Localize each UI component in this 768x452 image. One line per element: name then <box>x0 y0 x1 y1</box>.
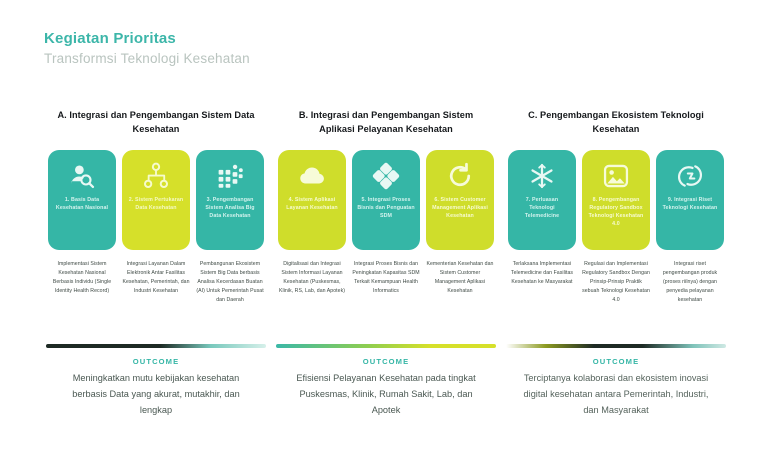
card-9-label: 9. Integrasi Riset Teknologi Kesehatan <box>661 197 719 213</box>
column-b: B. Integrasi dan Pengembangan Sistem Apl… <box>274 108 498 418</box>
outcome-text-a: Meningkatkan mutu kebijakan kesehatan be… <box>46 371 266 418</box>
column-b-cards: 4. Sistem Aplikasi Layanan Kesehatan <box>274 150 498 250</box>
column-c-cards: 7. Perluasan Teknologi Telemedicine 8. P… <box>504 150 728 250</box>
description-7: Terlaksana Implementasi Telemedicine dan… <box>508 260 576 336</box>
column-c-heading: C. Pengembangan Ekosistem Teknologi Kese… <box>504 108 728 138</box>
card-7-label: 7. Perluasan Teknologi Telemedicine <box>513 197 571 221</box>
column-a: A. Integrasi dan Pengembangan Sistem Dat… <box>44 108 268 418</box>
card-8[interactable]: 8. Pengembangan Regulatory Sandbox Tekno… <box>582 150 650 250</box>
card-6[interactable]: 6. Sistem Customer Management Aplikasi K… <box>426 150 494 250</box>
card-1[interactable]: 1. Basis Data Kesehatan Nasional <box>48 150 116 250</box>
cloud-icon <box>297 161 327 191</box>
description-4: Digitalisasi dan Integrasi Sistem Inform… <box>278 260 346 336</box>
description-5: Integrasi Proses Bisnis dan Peningkatan … <box>352 260 420 336</box>
card-4-label: 4. Sistem Aplikasi Layanan Kesehatan <box>283 197 341 213</box>
card-9[interactable]: 9. Integrasi Riset Teknologi Kesehatan <box>656 150 724 250</box>
card-5-label: 5. Integrasi Proses Bisnis dan Penguatan… <box>357 197 415 221</box>
card-3[interactable]: 3. Pengembangan Sistem Analisa Big Data … <box>196 150 264 250</box>
card-5[interactable]: 5. Integrasi Proses Bisnis dan Penguatan… <box>352 150 420 250</box>
user-search-icon <box>67 161 97 191</box>
card-2[interactable]: 2. Sistem Pertukaran Data Kesehatan <box>122 150 190 250</box>
column-b-descriptions: Digitalisasi dan Integrasi Sistem Inform… <box>274 260 498 336</box>
card-2-label: 2. Sistem Pertukaran Data Kesehatan <box>127 197 185 213</box>
column-c-descriptions: Terlaksana Implementasi Telemedicine dan… <box>504 260 728 336</box>
medical-snowflake-icon <box>527 161 557 191</box>
card-7[interactable]: 7. Perluasan Teknologi Telemedicine <box>508 150 576 250</box>
card-6-label: 6. Sistem Customer Management Aplikasi K… <box>431 197 489 221</box>
outcome-label-a: OUTCOME <box>46 357 266 366</box>
card-1-label: 1. Basis Data Kesehatan Nasional <box>53 197 111 213</box>
header: Kegiatan Prioritas Transformsi Teknologi… <box>44 30 250 67</box>
outcome-divider-b <box>276 344 496 348</box>
column-a-descriptions: Implementasi Sistem Kesehatan Nasional B… <box>44 260 268 336</box>
description-9: Integrasi riset pengembangan produk (pro… <box>656 260 724 336</box>
refresh-cycle-icon <box>445 161 475 191</box>
description-1: Implementasi Sistem Kesehatan Nasional B… <box>48 260 116 336</box>
sandbox-image-icon <box>601 161 631 191</box>
outcome-label-c: OUTCOME <box>506 357 726 366</box>
description-8: Regulasi dan Implementasi Regulatory San… <box>582 260 650 336</box>
columns-container: A. Integrasi dan Pengembangan Sistem Dat… <box>44 108 728 418</box>
column-a-cards: 1. Basis Data Kesehatan Nasional 2. Sist… <box>44 150 268 250</box>
column-a-heading: A. Integrasi dan Pengembangan Sistem Dat… <box>44 108 268 138</box>
column-b-outcome: OUTCOME Efisiensi Pelayanan Kesehatan pa… <box>274 344 498 418</box>
grid-dots-icon <box>215 161 245 191</box>
column-a-outcome: OUTCOME Meningkatkan mutu kebijakan kese… <box>44 344 268 418</box>
infographic-page: Kegiatan Prioritas Transformsi Teknologi… <box>0 0 768 452</box>
diamond-grid-icon <box>371 161 401 191</box>
card-8-label: 8. Pengembangan Regulatory Sandbox Tekno… <box>587 197 645 229</box>
outcome-text-c: Terciptanya kolaborasi dan ekosistem ino… <box>506 371 726 418</box>
column-c-outcome: OUTCOME Terciptanya kolaborasi dan ekosi… <box>504 344 728 418</box>
card-3-label: 3. Pengembangan Sistem Analisa Big Data … <box>201 197 259 221</box>
column-b-heading: B. Integrasi dan Pengembangan Sistem Apl… <box>274 108 498 138</box>
outcome-divider-a <box>46 344 266 348</box>
page-title: Kegiatan Prioritas <box>44 30 250 47</box>
page-subtitle: Transformsi Teknologi Kesehatan <box>44 51 250 67</box>
outcome-text-b: Efisiensi Pelayanan Kesehatan pada tingk… <box>276 371 496 418</box>
description-3: Pembangunan Ekosistem Sistem Big Data be… <box>196 260 264 336</box>
description-2: Integrasi Layanan Dalam Elektronik Antar… <box>122 260 190 336</box>
outcome-divider-c <box>506 344 726 348</box>
innovation-link-icon <box>675 161 705 191</box>
description-6: Kementerian Kesehatan dan Sistem Custome… <box>426 260 494 336</box>
network-share-icon <box>141 161 171 191</box>
outcome-label-b: OUTCOME <box>276 357 496 366</box>
column-c: C. Pengembangan Ekosistem Teknologi Kese… <box>504 108 728 418</box>
card-4[interactable]: 4. Sistem Aplikasi Layanan Kesehatan <box>278 150 346 250</box>
